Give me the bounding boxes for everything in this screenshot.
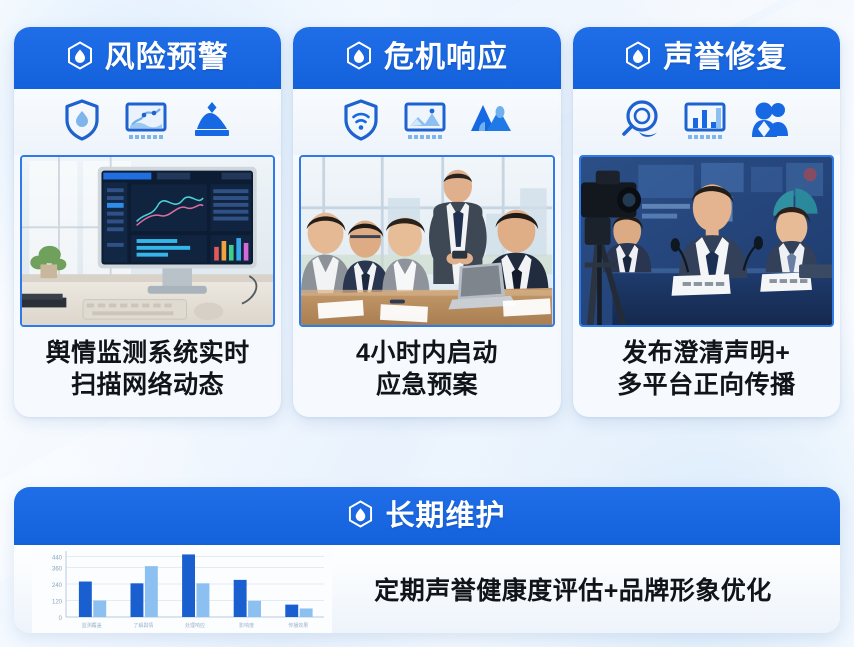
card-crisis-response[interactable]: 危机响应 [293, 27, 560, 417]
search-magnifier-icon [619, 98, 661, 147]
card-caption: 4小时内启动 应急预案 [293, 327, 560, 417]
cards-row: 风险预警 [14, 27, 840, 417]
infographic-canvas: 风险预警 [0, 0, 854, 647]
svg-text:了解舆情: 了解舆情 [133, 622, 153, 629]
card-title: 危机响应 [384, 43, 508, 73]
shield-location-icon [62, 98, 102, 147]
shield-wifi-icon [341, 98, 381, 147]
card-icon-strip [14, 89, 281, 155]
business-meeting-conference-room-photo [299, 155, 554, 327]
card-title: 声誉修复 [663, 43, 787, 73]
mountains-icon [469, 98, 513, 147]
card-risk-warning[interactable]: 风险预警 [14, 27, 281, 417]
svg-text:240: 240 [52, 583, 63, 589]
reputation-health-bar-chart: 0120240360440监测覆盖了解舆情处理响应影响度传播效果 [32, 545, 332, 633]
mountain-peak-icon [190, 98, 234, 147]
svg-text:440: 440 [52, 556, 63, 562]
monitor-barchart-icon [683, 98, 727, 147]
press-conference-briefing-photo [579, 155, 834, 327]
hexagon-droplet-icon [348, 500, 373, 533]
card-icon-strip [573, 89, 840, 155]
caption-line: 应急预案 [356, 369, 498, 401]
svg-text:传播效果: 传播效果 [288, 622, 308, 629]
card-caption: 舆情监测系统实时 扫描网络动态 [14, 327, 281, 417]
caption-line: 4小时内启动 [356, 337, 498, 369]
caption-line: 扫描网络动态 [46, 369, 250, 401]
card-icon-strip [293, 89, 560, 155]
hexagon-droplet-icon [346, 41, 372, 75]
monitor-linechart-icon [124, 98, 168, 147]
caption-line: 发布澄清声明+ [617, 337, 796, 369]
bottom-panel-header: 长期维护 [14, 487, 840, 545]
card-caption: 发布澄清声明+ 多平台正向传播 [573, 327, 840, 417]
bottom-panel-caption: 定期声誉健康度评估+品牌形象优化 [332, 571, 840, 607]
caption-line: 多平台正向传播 [617, 369, 796, 401]
card-reputation-repair[interactable]: 声誉修复 [573, 27, 840, 417]
svg-text:监测覆盖: 监测覆盖 [82, 622, 102, 629]
hexagon-droplet-icon [625, 41, 651, 75]
card-header: 风险预警 [14, 27, 281, 89]
hexagon-droplet-icon [67, 41, 93, 75]
people-group-icon [749, 98, 793, 147]
card-header: 声誉修复 [573, 27, 840, 89]
caption-line: 舆情监测系统实时 [46, 337, 250, 369]
desk-monitor-analytics-dashboard-photo [20, 155, 275, 327]
svg-text:120: 120 [52, 600, 63, 606]
monitor-image-icon [403, 98, 447, 147]
svg-text:处理响应: 处理响应 [185, 622, 205, 629]
card-title: 风险预警 [105, 43, 229, 73]
bottom-panel-body: 0120240360440监测覆盖了解舆情处理响应影响度传播效果 定期声誉健康度… [14, 545, 840, 633]
bottom-panel-title: 长期维护 [385, 502, 505, 531]
long-term-maintenance-panel[interactable]: 长期维护 0120240360440监测覆盖了解舆情处理响应影响度传播效果 定期… [14, 487, 840, 633]
svg-text:360: 360 [52, 567, 63, 573]
svg-text:影响度: 影响度 [239, 622, 254, 629]
card-header: 危机响应 [293, 27, 560, 89]
